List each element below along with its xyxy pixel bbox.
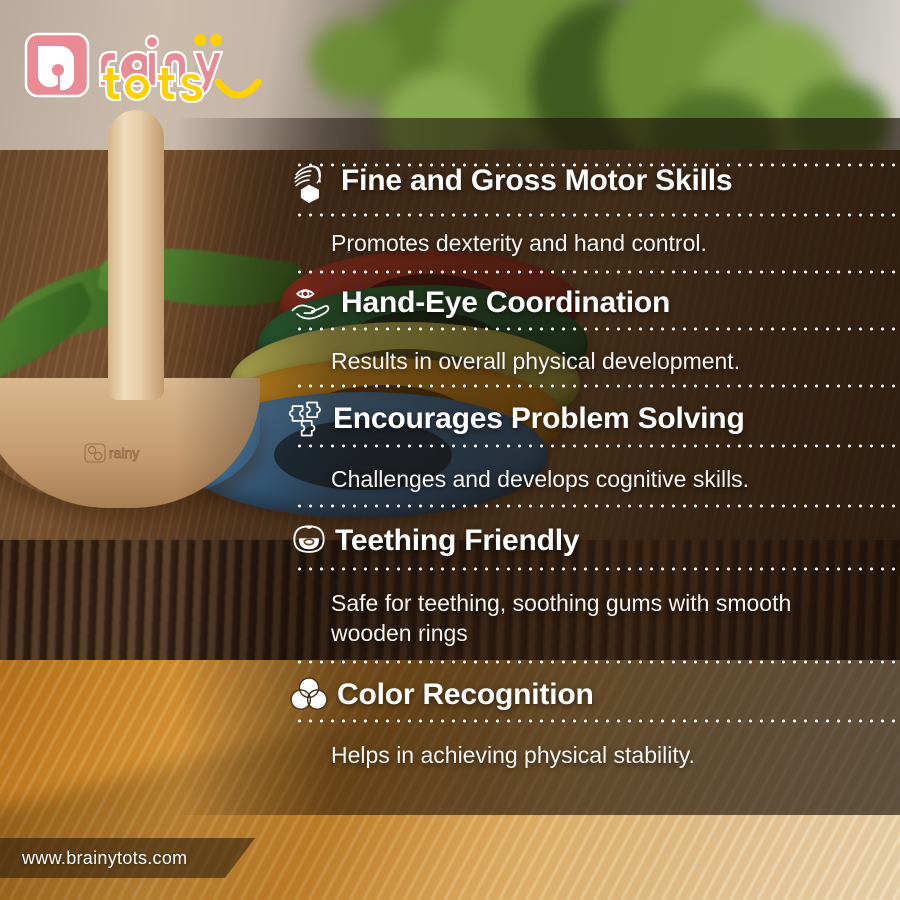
feature-header: Encourages Problem Solving <box>0 388 900 450</box>
eye-over-hand-icon <box>287 281 331 325</box>
feature-header: Color Recognition <box>0 664 900 726</box>
feature-description: Results in overall physical development. <box>0 334 900 388</box>
feature-item: Encourages Problem Solving Challenges an… <box>0 388 900 510</box>
feature-header: Fine and Gross Motor Skills <box>0 150 900 212</box>
feature-title: Color Recognition <box>337 678 594 712</box>
benefits-list: Fine and Gross Motor Skills Promotes dex… <box>0 150 900 770</box>
feature-item: Color Recognition Helps in achieving phy… <box>0 664 900 770</box>
feature-item: Hand-Eye Coordination Results in overall… <box>0 272 900 388</box>
dotted-divider <box>294 567 900 571</box>
dotted-divider <box>294 444 900 448</box>
feature-title: Fine and Gross Motor Skills <box>341 164 732 198</box>
feature-description: Safe for teething, soothing gums with sm… <box>0 572 900 664</box>
color-venn-circles-icon <box>287 673 331 717</box>
feature-description: Promotes dexterity and hand control. <box>0 212 900 272</box>
hand-grasping-cube-icon <box>287 159 331 203</box>
feature-description: Helps in achieving physical stability. <box>0 726 900 770</box>
website-url[interactable]: www.brainytots.com <box>0 848 187 869</box>
feature-description: Challenges and develops cognitive skills… <box>0 450 900 510</box>
feature-item: Fine and Gross Motor Skills Promotes dex… <box>0 150 900 272</box>
feature-header: Hand-Eye Coordination <box>0 272 900 334</box>
footer-banner: www.brainytots.com <box>0 838 255 878</box>
puzzle-pieces-icon <box>287 397 331 441</box>
dotted-divider <box>294 504 900 508</box>
promo-graphic: rainy <box>0 0 900 900</box>
feature-title: Encourages Problem Solving <box>333 402 745 436</box>
dotted-divider <box>294 327 900 331</box>
baby-face-icon <box>287 519 331 563</box>
feature-header: Teething Friendly <box>0 510 900 572</box>
feature-title: Hand-Eye Coordination <box>341 286 670 320</box>
feature-title: Teething Friendly <box>335 524 579 558</box>
brainy-tots-logo[interactable] <box>24 24 274 104</box>
dotted-divider <box>294 719 900 723</box>
feature-item: Teething Friendly Safe for teething, soo… <box>0 510 900 664</box>
